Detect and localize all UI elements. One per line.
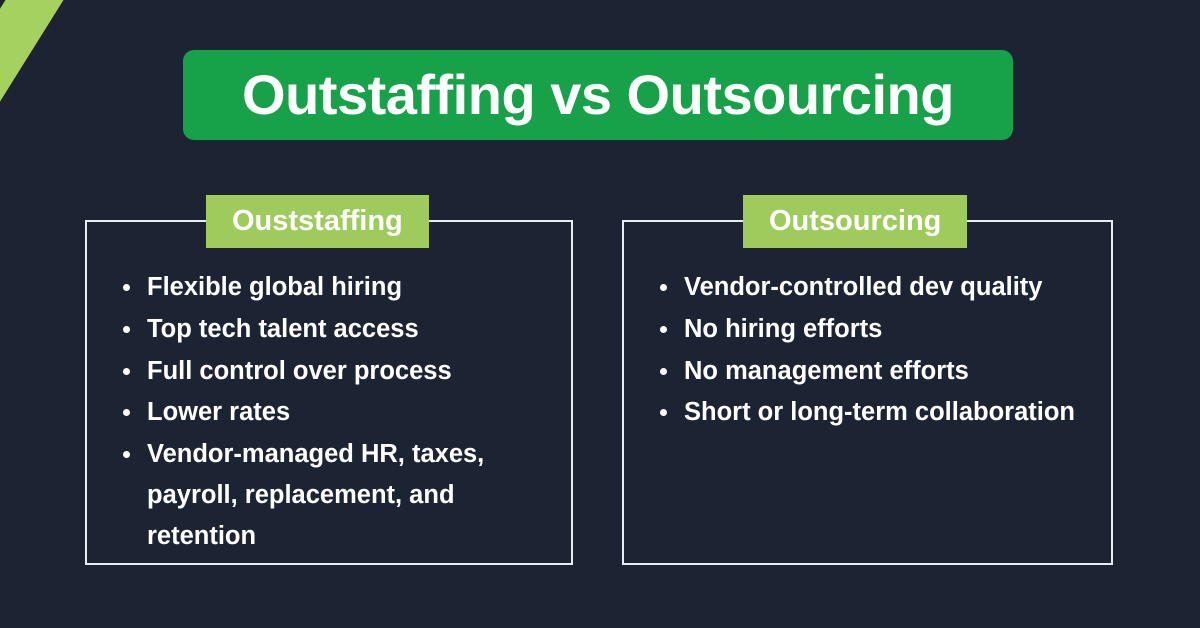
list-item: Full control over process [113,351,551,392]
list-item: Top tech talent access [113,309,551,350]
list-item: Vendor-managed HR, taxes, payroll, repla… [113,434,551,556]
list-item: Short or long-term collaboration [650,392,1091,433]
infographic-slide: Outstaffing vs Outsourcing Ouststaffing … [0,0,1200,628]
panel-header-label-outstaffing: Ouststaffing [232,207,403,236]
bullet-list-outsourcing: Vendor-controlled dev quality No hiring … [624,222,1111,433]
panel-outsourcing: Outsourcing Vendor-controlled dev qualit… [622,220,1113,565]
list-item: Flexible global hiring [113,267,551,308]
comparison-columns: Ouststaffing Flexible global hiring Top … [0,0,1200,628]
panel-header-outsourcing: Outsourcing [743,195,967,248]
bullet-list-outstaffing: Flexible global hiring Top tech talent a… [87,222,571,557]
panel-header-outstaffing: Ouststaffing [206,195,429,248]
list-item: No management efforts [650,351,1091,392]
panel-outstaffing: Ouststaffing Flexible global hiring Top … [85,220,573,565]
list-item: Lower rates [113,392,551,433]
list-item: Vendor-controlled dev quality [650,267,1091,308]
list-item: No hiring efforts [650,309,1091,350]
panel-header-label-outsourcing: Outsourcing [769,207,941,236]
